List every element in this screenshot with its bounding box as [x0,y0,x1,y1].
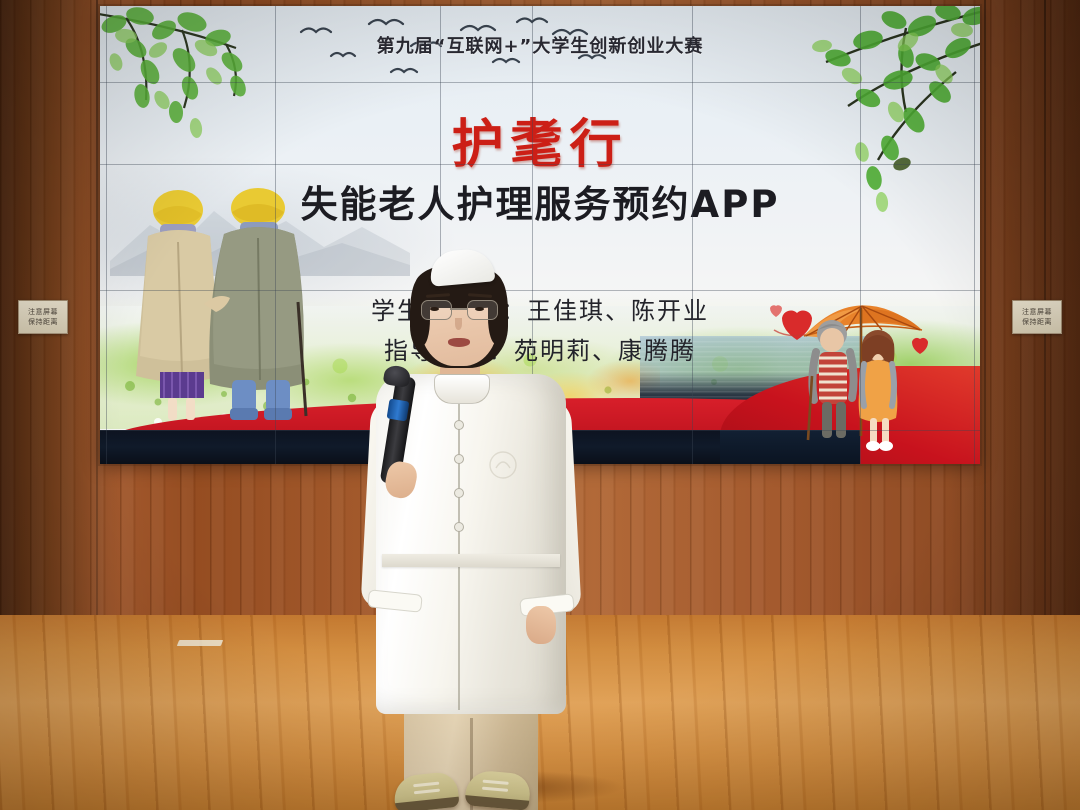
competition-header: 第九届“互联网+”大学生创新创业大赛 [100,32,980,58]
coat-button [454,488,464,498]
coat-belt [382,554,560,567]
eye-left [430,307,439,311]
wall-sign-right-line2: 保持距离 [1022,317,1052,327]
shoe-left [392,771,459,810]
uniform-embroidery-badge [486,448,520,482]
presenter [358,248,588,810]
presenter-hand-right [526,606,556,644]
microphone-blue-band [387,399,410,422]
slide-subtitle: 失能老人护理服务预约APP [100,174,980,228]
nurse-cap [429,247,496,286]
nose [455,318,462,330]
eye-right [475,307,484,311]
coat-button [454,420,464,430]
wall-sign-right-line1: 注意屏幕 [1022,307,1052,317]
wall-sign-right: 注意屏幕 保持距离 [1012,300,1062,334]
coat-button [454,454,464,464]
coat-button [454,522,464,532]
slide-title: 护耄行 [100,102,980,177]
wall-sign-left-line1: 注意屏幕 [28,307,58,317]
uniform-collar [434,374,490,404]
wall-sign-left-line2: 保持距离 [28,317,58,327]
wall-sign-left: 注意屏幕 保持距离 [18,300,68,334]
microphone-head [383,364,412,388]
floor-tape-marker [177,640,223,646]
photo-scene: 第九届“互联网+”大学生创新创业大赛 护耄行 失能老人护理服务预约APP 学生负… [0,0,1080,810]
mouth [448,338,470,347]
